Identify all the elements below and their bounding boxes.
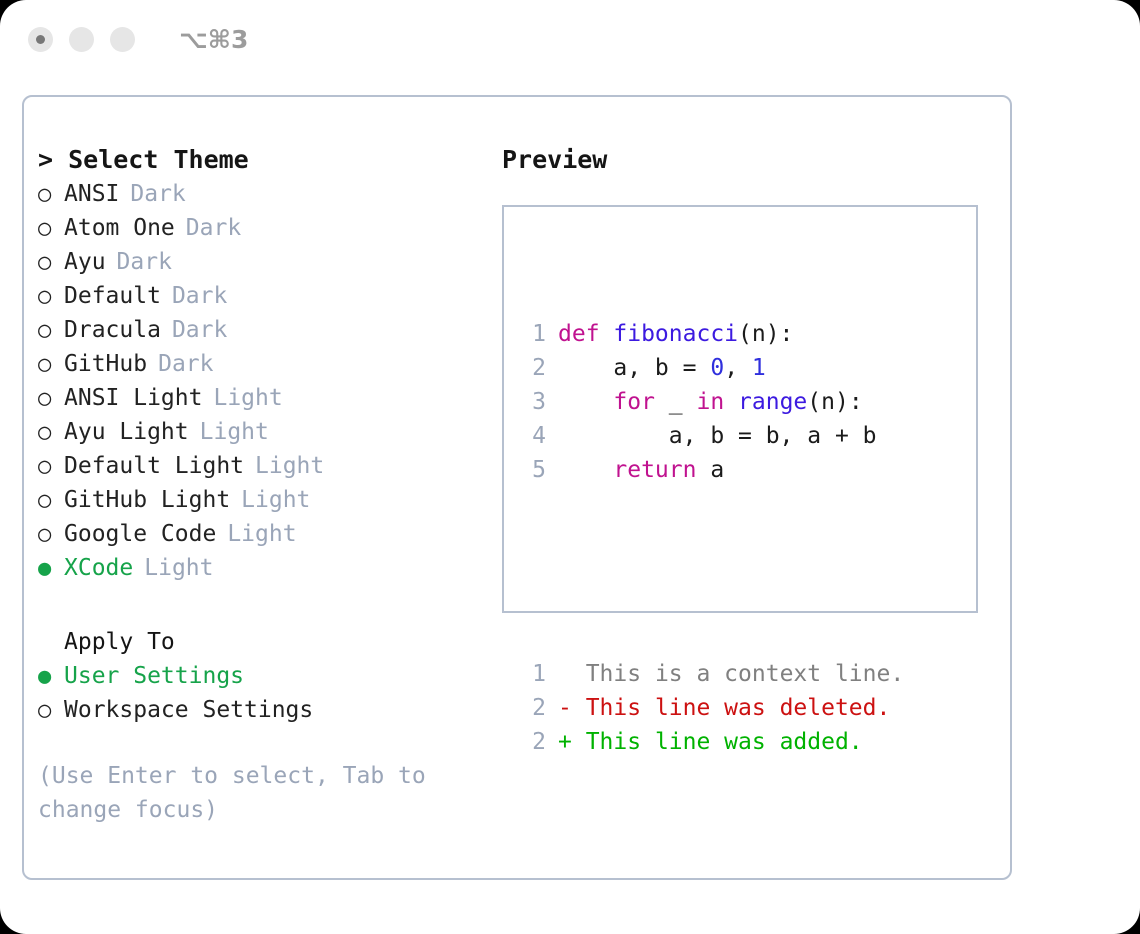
radio-unselected-icon: ○ xyxy=(38,348,64,382)
code-token-fn: fibonacci xyxy=(613,321,738,347)
theme-option-row[interactable]: ○GitHub LightLight xyxy=(38,483,478,517)
preview-box: 1def fibonacci(n):2 a, b = 0, 13 for _ i… xyxy=(502,205,978,613)
window-dot-close[interactable] xyxy=(28,27,53,52)
line-number: 2 xyxy=(518,691,546,725)
theme-variant-badge: Dark xyxy=(172,313,227,347)
code-line: 2 a, b = 0, 1 xyxy=(518,351,904,385)
keyboard-hint-text: (Use Enter to select, Tab to change focu… xyxy=(38,759,438,827)
radio-unselected-icon: ○ xyxy=(38,382,64,416)
theme-variant-badge: Light xyxy=(241,483,310,517)
line-number: 1 xyxy=(518,317,546,351)
window-titlebar: ⌥⌘3 xyxy=(0,0,1140,78)
section-spacer xyxy=(38,585,478,625)
apply-to-option-row[interactable]: ●User Settings xyxy=(38,659,478,693)
theme-option-row[interactable]: ○GitHubDark xyxy=(38,347,478,381)
code-token-txt: _ xyxy=(655,389,697,415)
line-number: 2 xyxy=(518,725,546,759)
code-token-kw: return xyxy=(613,457,696,483)
code-token-txt xyxy=(558,389,613,415)
code-token-txt: a, b = xyxy=(558,355,710,381)
theme-option-row[interactable]: ○Default LightLight xyxy=(38,449,478,483)
radio-unselected-icon: ○ xyxy=(38,416,64,450)
diff-sign: + xyxy=(558,725,572,759)
code-sample: 1def fibonacci(n):2 a, b = 0, 13 for _ i… xyxy=(518,317,904,487)
code-token-num: 0 xyxy=(710,355,724,381)
code-line: 3 for _ in range(n): xyxy=(518,385,904,419)
apply-to-label: Workspace Settings xyxy=(64,693,313,727)
code-token-txt: , xyxy=(724,355,752,381)
app-window: ⌥⌘3 > Select Theme ○ANSIDark○Atom OneDar… xyxy=(0,0,1140,934)
theme-option-row[interactable]: ○Atom OneDark xyxy=(38,211,478,245)
code-line: 1def fibonacci(n): xyxy=(518,317,904,351)
theme-option-row[interactable]: ○ANSIDark xyxy=(38,177,478,211)
diff-line-text: This line was deleted. xyxy=(572,691,891,725)
radio-selected-icon: ● xyxy=(38,552,64,586)
theme-name-label: GitHub Light xyxy=(64,483,230,517)
theme-variant-badge: Light xyxy=(255,449,324,483)
code-token-txt: (n): xyxy=(738,321,793,347)
keyboard-shortcut-label: ⌥⌘3 xyxy=(179,25,248,54)
code-token-num: 1 xyxy=(752,355,766,381)
diff-sign xyxy=(558,657,572,691)
theme-list: ○ANSIDark○Atom OneDark○AyuDark○DefaultDa… xyxy=(38,177,478,585)
theme-name-label: Atom One xyxy=(64,211,175,245)
code-token-kw: def xyxy=(558,321,613,347)
line-number: 5 xyxy=(518,453,546,487)
theme-variant-badge: Light xyxy=(227,517,296,551)
preview-column: Preview 1def fibonacci(n):2 a, b = 0, 13… xyxy=(502,143,1002,613)
theme-variant-badge: Dark xyxy=(117,245,172,279)
apply-to-option-row[interactable]: ○Workspace Settings xyxy=(38,693,478,727)
theme-variant-badge: Light xyxy=(213,381,282,415)
radio-unselected-icon: ○ xyxy=(38,178,64,212)
radio-unselected-icon: ○ xyxy=(38,246,64,280)
code-token-txt: a xyxy=(696,457,724,483)
line-number: 4 xyxy=(518,419,546,453)
line-number: 2 xyxy=(518,351,546,385)
line-number: 3 xyxy=(518,385,546,419)
theme-variant-badge: Dark xyxy=(130,177,185,211)
code-line-content: a, b = 0, 1 xyxy=(558,351,766,385)
apply-to-heading: Apply To xyxy=(38,625,478,659)
code-token-txt: (n): xyxy=(807,389,862,415)
select-theme-heading: > Select Theme xyxy=(38,143,478,177)
theme-option-row[interactable]: ○AyuDark xyxy=(38,245,478,279)
theme-name-label: XCode xyxy=(64,551,133,585)
code-token-txt: a, b = b, a + b xyxy=(558,423,877,449)
theme-option-row[interactable]: ○ANSI LightLight xyxy=(38,381,478,415)
theme-option-row[interactable]: ○Ayu LightLight xyxy=(38,415,478,449)
theme-option-row[interactable]: ●XCodeLight xyxy=(38,551,478,585)
code-diff-spacer xyxy=(518,555,904,589)
code-token-txt xyxy=(724,389,738,415)
theme-variant-badge: Dark xyxy=(158,347,213,381)
code-token-fn: range xyxy=(738,389,807,415)
apply-to-label: User Settings xyxy=(64,659,244,693)
code-line-content: a, b = b, a + b xyxy=(558,419,877,453)
radio-unselected-icon: ○ xyxy=(38,212,64,246)
radio-unselected-icon: ○ xyxy=(38,518,64,552)
theme-name-label: Dracula xyxy=(64,313,161,347)
line-number: 1 xyxy=(518,657,546,691)
radio-unselected-icon: ○ xyxy=(38,450,64,484)
theme-name-label: Google Code xyxy=(64,517,216,551)
code-token-txt xyxy=(558,457,613,483)
code-line-content: return a xyxy=(558,453,724,487)
theme-name-label: Ayu Light xyxy=(64,415,189,449)
theme-name-label: Default Light xyxy=(64,449,244,483)
preview-heading: Preview xyxy=(502,143,1002,177)
active-indicator-icon xyxy=(36,35,45,44)
diff-line: 2+ This line was added. xyxy=(518,725,904,759)
radio-selected-icon: ● xyxy=(38,660,64,694)
diff-sign: - xyxy=(558,691,572,725)
code-line: 4 a, b = b, a + b xyxy=(518,419,904,453)
window-dot-zoom[interactable] xyxy=(110,27,135,52)
apply-to-list: ●User Settings○Workspace Settings xyxy=(38,659,478,727)
theme-list-column: > Select Theme ○ANSIDark○Atom OneDark○Ay… xyxy=(38,143,478,827)
code-line: 5 return a xyxy=(518,453,904,487)
window-controls xyxy=(28,27,135,52)
theme-picker-panel: > Select Theme ○ANSIDark○Atom OneDark○Ay… xyxy=(22,95,1012,880)
code-preview-area: 1def fibonacci(n):2 a, b = 0, 13 for _ i… xyxy=(518,249,904,827)
theme-name-label: ANSI xyxy=(64,177,119,211)
code-line-content: for _ in range(n): xyxy=(558,385,863,419)
diff-line: 1 This is a context line. xyxy=(518,657,904,691)
theme-name-label: Ayu xyxy=(64,245,106,279)
theme-name-label: GitHub xyxy=(64,347,147,381)
theme-option-row[interactable]: ○DefaultDark xyxy=(38,279,478,313)
radio-unselected-icon: ○ xyxy=(38,280,64,314)
theme-option-row[interactable]: ○DraculaDark xyxy=(38,313,478,347)
theme-name-label: ANSI Light xyxy=(64,381,202,415)
code-token-kw: for xyxy=(613,389,655,415)
theme-variant-badge: Light xyxy=(144,551,213,585)
theme-name-label: Default xyxy=(64,279,161,313)
radio-unselected-icon: ○ xyxy=(38,694,64,728)
diff-line: 2- This line was deleted. xyxy=(518,691,904,725)
theme-variant-badge: Dark xyxy=(186,211,241,245)
diff-line-text: This line was added. xyxy=(572,725,863,759)
diff-sample: 1 This is a context line.2- This line wa… xyxy=(518,657,904,759)
theme-option-row[interactable]: ○Google CodeLight xyxy=(38,517,478,551)
theme-variant-badge: Dark xyxy=(172,279,227,313)
code-line-content: def fibonacci(n): xyxy=(558,317,793,351)
radio-unselected-icon: ○ xyxy=(38,484,64,518)
theme-variant-badge: Light xyxy=(200,415,269,449)
window-dot-minimize[interactable] xyxy=(69,27,94,52)
code-token-kw: in xyxy=(696,389,724,415)
radio-unselected-icon: ○ xyxy=(38,314,64,348)
diff-line-text: This is a context line. xyxy=(572,657,904,691)
